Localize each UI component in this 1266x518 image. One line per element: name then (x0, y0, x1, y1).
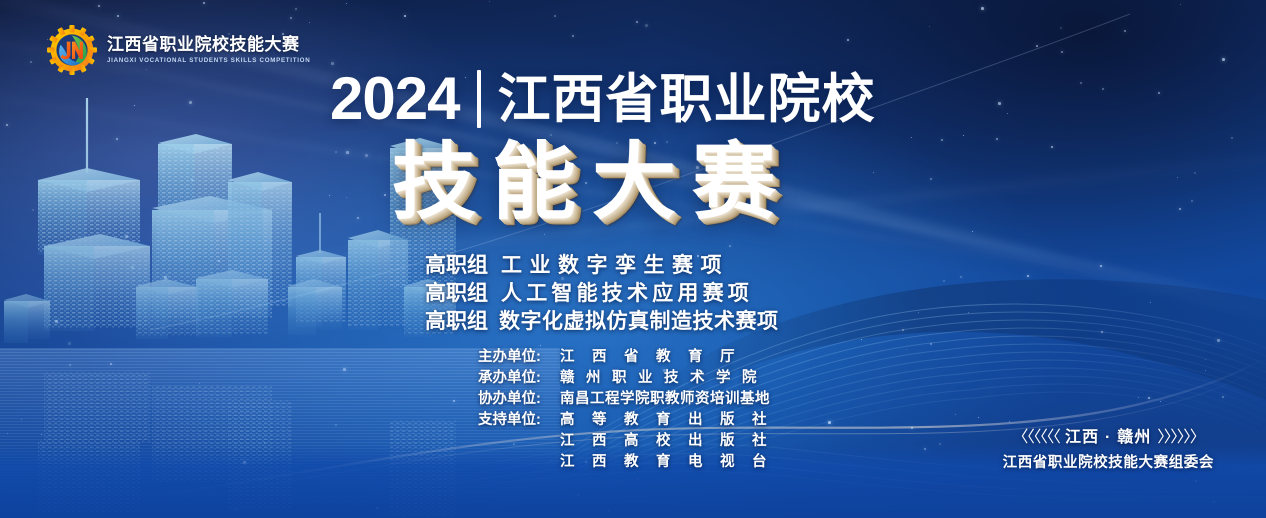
organizer-row: 协办单位: 南昌工程学院职教师资培训基地 (478, 392, 784, 407)
organizer-value: 江西省教育厅 (560, 350, 752, 365)
chevrons-left-icon: 〈〈〈〈〈〈 (1012, 429, 1059, 446)
organizer-row: 主办单位: 江西省教育厅 (478, 350, 784, 365)
main-headline: 2024 江西省职业院校 技能大赛 (330, 64, 875, 227)
organizer-label: 支持单位: (478, 413, 560, 428)
event-item: 高职组 人工智能技术应用赛项 (425, 283, 779, 304)
organizer-label: 协办单位: (478, 392, 560, 407)
event-logo[interactable]: 江西省职业院校技能大赛 JIANGXI VOCATIONAL STUDENTS … (46, 24, 310, 76)
event-group-label: 高职组 (425, 255, 488, 276)
headline-row-one: 2024 江西省职业院校 (330, 64, 875, 134)
logo-english-name: JIANGXI VOCATIONAL STUDENTS SKILLS COMPE… (107, 57, 310, 64)
committee-name: 江西省职业院校技能大赛组委会 (1003, 455, 1214, 472)
event-group-label: 高职组 (425, 283, 488, 304)
event-name-label: 人工智能技术应用赛项 (501, 283, 753, 304)
logo-chinese-name: 江西省职业院校技能大赛 (107, 36, 310, 55)
event-name-label: 数字化虚拟仿真制造技术赛项 (499, 311, 779, 332)
organizer-value: 南昌工程学院职教师资培训基地 (560, 392, 770, 407)
headline-separator (477, 70, 481, 128)
organizer-row: 支持单位: 江西教育电视台 (478, 455, 784, 470)
organizer-value: 高等教育出版社 (560, 413, 784, 428)
gear-logo-icon (46, 24, 98, 76)
organizer-row: 承办单位: 赣州职业技术学院 (478, 371, 784, 386)
headline-year: 2024 (330, 69, 459, 129)
committee-location-line: 〈〈〈〈〈〈 江西 · 赣州 〉〉〉〉〉〉 (1003, 428, 1214, 447)
event-group-label: 高职组 (425, 311, 488, 332)
event-name-label: 工业数字孪生赛项 (501, 255, 729, 276)
organizer-value: 赣州职业技术学院 (560, 371, 768, 386)
competition-banner: 江西省职业院校技能大赛 JIANGXI VOCATIONAL STUDENTS … (0, 0, 1266, 518)
event-item: 高职组 工业数字孪生赛项 (425, 255, 779, 276)
organizer-list: 主办单位: 江西省教育厅 承办单位: 赣州职业技术学院 协办单位: 南昌工程学院… (478, 350, 784, 476)
headline-event-name: 技能大赛 (392, 138, 875, 227)
committee-location: 江西 · 赣州 (1065, 429, 1152, 446)
organizer-value: 江西教育电视台 (560, 455, 784, 470)
event-item: 高职组 数字化虚拟仿真制造技术赛项 (425, 311, 779, 332)
organizer-label: 主办单位: (478, 350, 560, 365)
organizer-value: 江西高校出版社 (560, 434, 784, 449)
competition-event-list: 高职组 工业数字孪生赛项 高职组 人工智能技术应用赛项 高职组 数字化虚拟仿真制… (425, 255, 779, 339)
headline-org-name: 江西省职业院校 (497, 73, 875, 126)
organizer-row: 支持单位: 江西高校出版社 (478, 434, 784, 449)
logo-text-block: 江西省职业院校技能大赛 JIANGXI VOCATIONAL STUDENTS … (107, 36, 310, 65)
chevrons-right-icon: 〉〉〉〉〉〉 (1157, 429, 1204, 446)
committee-block: 〈〈〈〈〈〈 江西 · 赣州 〉〉〉〉〉〉 江西省职业院校技能大赛组委会 (1003, 428, 1214, 472)
organizer-label: 承办单位: (478, 371, 560, 386)
organizer-row: 支持单位: 高等教育出版社 (478, 413, 784, 428)
